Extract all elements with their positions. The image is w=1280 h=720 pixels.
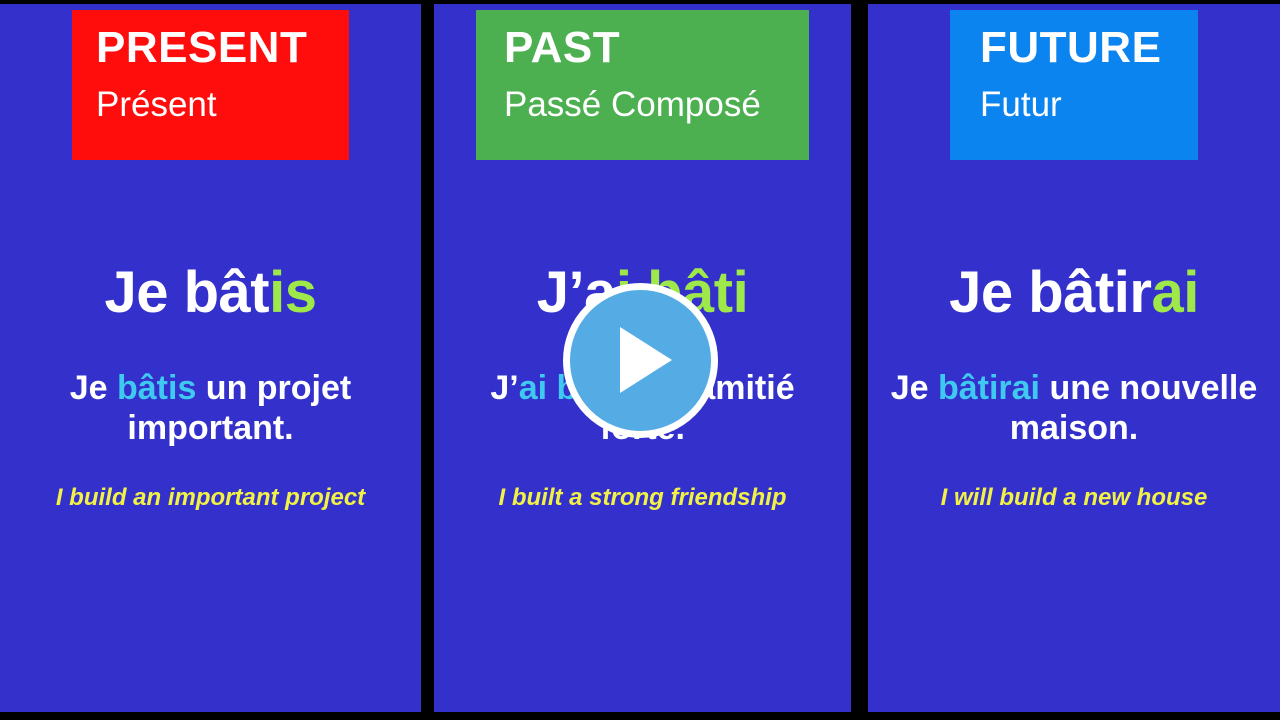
sentence-before: Je <box>891 369 938 407</box>
play-triangle-icon <box>620 327 672 393</box>
tense-column-future: FUTURE Futur Je bâtirai Je bâtirai une n… <box>868 0 1280 720</box>
conjugation-stem: Je bât <box>104 260 269 325</box>
letterbox-top <box>0 0 1280 4</box>
conjugation-ending: is <box>269 260 316 325</box>
sentence-before: Je <box>70 369 117 407</box>
conjugation-tail: i <box>733 260 749 325</box>
translation-future: I will build a new house <box>868 482 1280 514</box>
example-sentence-present: Je bâtis un projet important. <box>0 368 421 448</box>
example-sentence-future: Je bâtirai une nouvelle maison. <box>868 368 1280 448</box>
letterbox-bottom <box>0 712 1280 720</box>
conjugation-headline-present: Je bâtis <box>104 264 316 322</box>
tense-badge-title: PAST <box>504 24 809 72</box>
tense-badge-present: PRESENT Présent <box>72 10 349 160</box>
play-button[interactable] <box>563 283 718 438</box>
translation-past: I built a strong friendship <box>434 482 851 514</box>
translation-present: I build an important project <box>0 482 421 514</box>
tense-badge-past: PAST Passé Composé <box>476 10 809 160</box>
conjugation-ending: ai <box>1151 260 1198 325</box>
tense-badge-subtitle: Futur <box>980 86 1198 125</box>
tense-badge-title: PRESENT <box>96 24 349 72</box>
tense-badge-future: FUTURE Futur <box>950 10 1198 160</box>
conjugation-headline-future: Je bâtirai <box>949 264 1199 322</box>
tense-badge-title: FUTURE <box>980 24 1198 72</box>
sentence-verb: bâtis <box>117 369 196 407</box>
tense-badge-subtitle: Présent <box>96 86 349 125</box>
sentence-after: une nouvelle maison. <box>1010 369 1258 447</box>
video-frame: PRESENT Présent Je bâtis Je bâtis un pro… <box>0 0 1280 720</box>
tense-column-present: PRESENT Présent Je bâtis Je bâtis un pro… <box>0 0 421 720</box>
sentence-verb: bâtirai <box>938 369 1040 407</box>
conjugation-stem: Je bâtir <box>949 260 1151 325</box>
sentence-before: J’ <box>490 369 518 407</box>
tense-badge-subtitle: Passé Composé <box>504 86 809 125</box>
